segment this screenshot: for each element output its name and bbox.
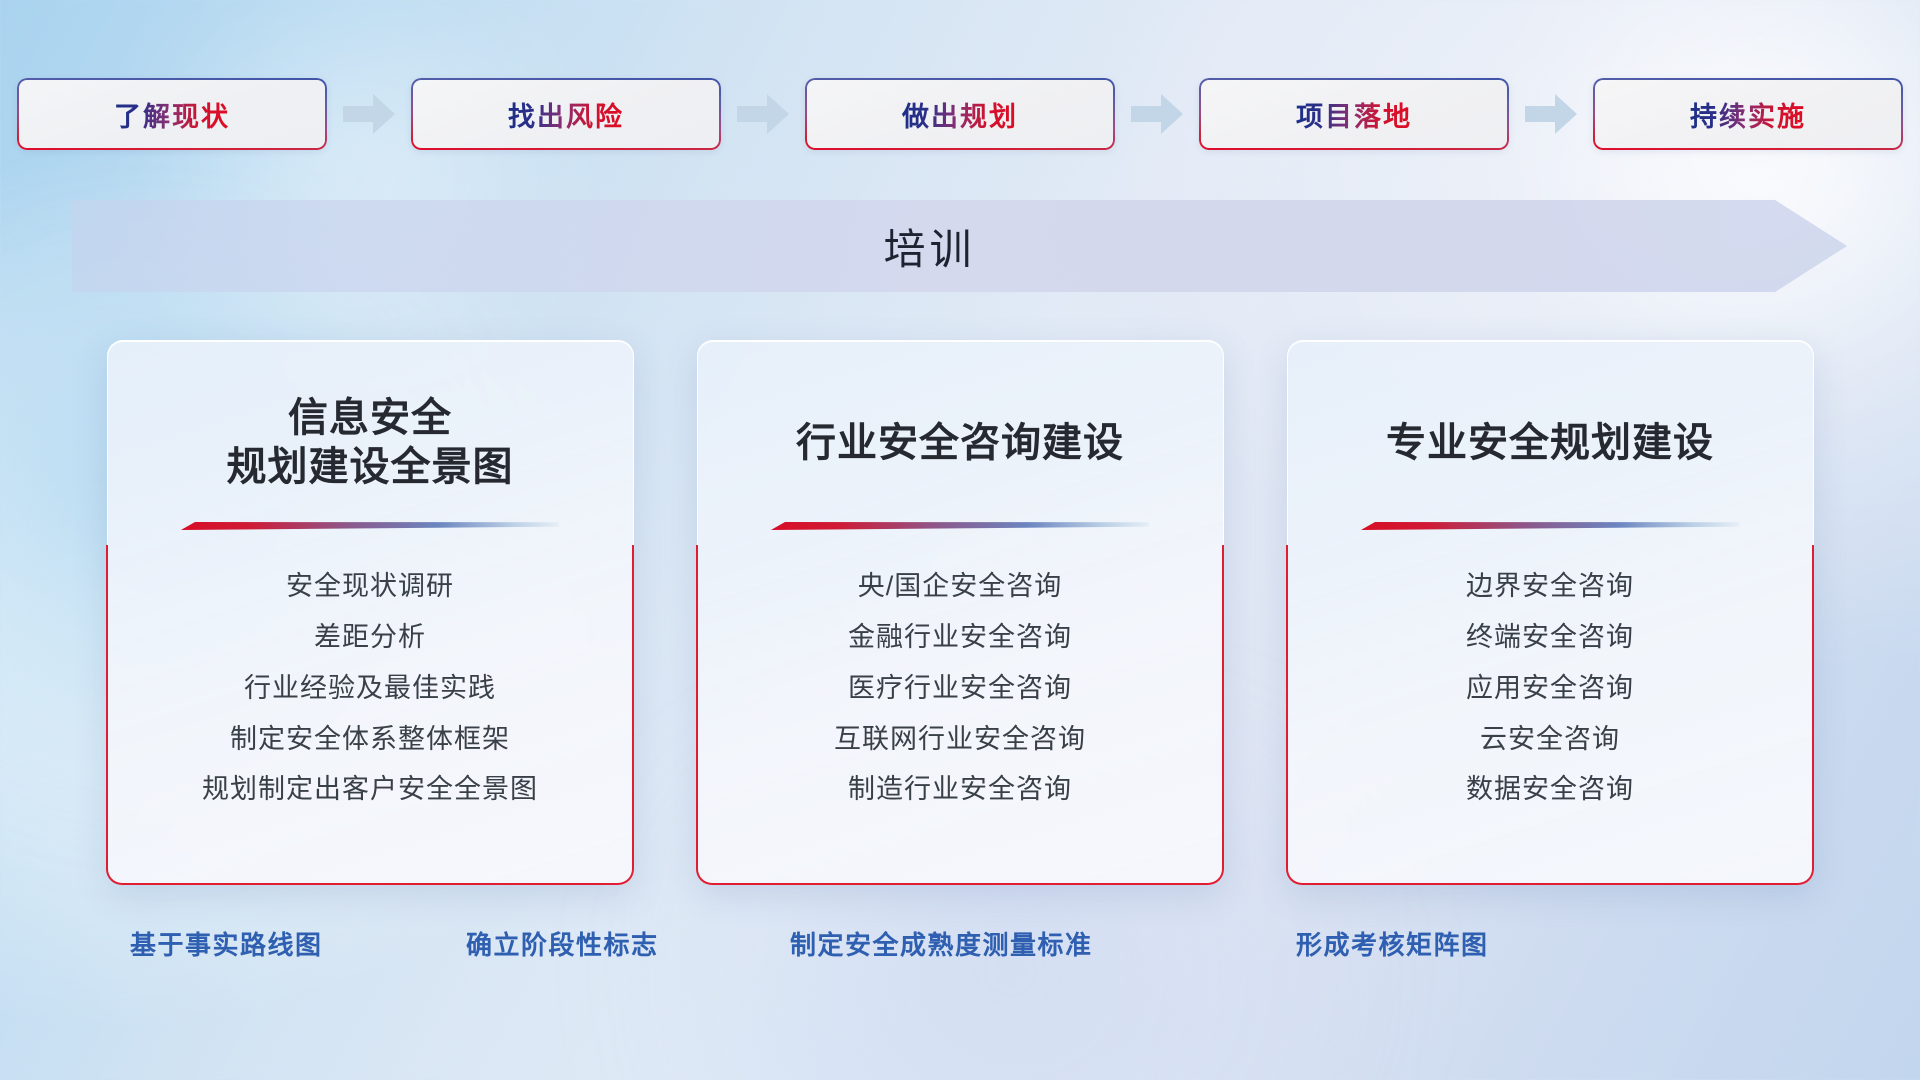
service-card-1[interactable]: 信息安全 规划建设全景图 安全现状调研 差	[107, 340, 634, 885]
card-divider-1	[181, 519, 559, 532]
service-card-2[interactable]: 行业安全咨询建设 央/国企安全咨询 金融行业安全咨询	[697, 340, 1224, 885]
list-item: 金融行业安全咨询	[848, 617, 1072, 659]
list-item: 应用安全咨询	[1466, 668, 1634, 710]
training-banner: 培训	[72, 200, 1847, 292]
card-title-2: 行业安全咨询建设	[796, 393, 1124, 493]
card-divider-2	[771, 519, 1149, 532]
step-button-4[interactable]: 项目落地	[1199, 78, 1509, 150]
card-title-line: 行业安全咨询建设	[796, 419, 1124, 468]
list-item: 终端安全咨询	[1466, 617, 1634, 659]
list-item: 云安全咨询	[1480, 719, 1620, 761]
card-title-line: 信息安全	[227, 394, 514, 443]
step-label: 做出规划	[902, 95, 1018, 134]
outcome-caption-2: 确立阶段性标志	[466, 925, 659, 962]
card-item-list-1: 安全现状调研 差距分析 行业经验及最佳实践 制定安全体系整体框架 规划制定出客户…	[142, 566, 599, 811]
process-step-bar: 了解现状 找出风险 做出规划 项目落地 持续实施	[0, 78, 1920, 150]
list-item: 安全现状调研	[286, 566, 454, 608]
outcome-caption-3: 制定安全成熟度测量标准	[790, 925, 1093, 962]
list-item: 医疗行业安全咨询	[848, 668, 1072, 710]
step-label: 了解现状	[114, 95, 230, 134]
step-button-3[interactable]: 做出规划	[805, 78, 1115, 150]
list-item: 数据安全咨询	[1466, 769, 1634, 811]
card-title-3: 专业安全规划建设	[1386, 393, 1714, 493]
list-item: 规划制定出客户安全全景图	[202, 769, 538, 811]
card-title-line: 专业安全规划建设	[1386, 419, 1714, 468]
outcome-caption-1: 基于事实路线图	[130, 925, 323, 962]
card-title-line: 规划建设全景图	[227, 443, 514, 492]
card-divider-3	[1361, 519, 1739, 532]
step-label: 找出风险	[508, 95, 624, 134]
list-item: 差距分析	[314, 617, 426, 659]
step-label: 项目落地	[1296, 95, 1412, 134]
step-arrow-icon-1	[327, 78, 411, 150]
step-button-5[interactable]: 持续实施	[1593, 78, 1903, 150]
outcome-caption-4: 形成考核矩阵图	[1296, 925, 1489, 962]
list-item: 边界安全咨询	[1466, 566, 1634, 608]
list-item: 央/国企安全咨询	[858, 566, 1063, 608]
list-item: 制定安全体系整体框架	[230, 719, 510, 761]
step-label: 持续实施	[1690, 95, 1806, 134]
step-arrow-icon-3	[1115, 78, 1199, 150]
list-item: 行业经验及最佳实践	[244, 668, 496, 710]
step-arrow-icon-4	[1509, 78, 1593, 150]
service-card-3[interactable]: 专业安全规划建设 边界安全咨询 终端安全咨询	[1287, 340, 1814, 885]
card-title-1: 信息安全 规划建设全景图	[227, 393, 514, 493]
step-button-2[interactable]: 找出风险	[411, 78, 721, 150]
step-arrow-icon-2	[721, 78, 805, 150]
banner-title: 培训	[72, 200, 1847, 292]
list-item: 制造行业安全咨询	[848, 769, 1072, 811]
card-item-list-2: 央/国企安全咨询 金融行业安全咨询 医疗行业安全咨询 互联网行业安全咨询 制造行…	[732, 566, 1189, 811]
step-button-1[interactable]: 了解现状	[17, 78, 327, 150]
card-item-list-3: 边界安全咨询 终端安全咨询 应用安全咨询 云安全咨询 数据安全咨询	[1322, 566, 1779, 811]
service-card-row: 信息安全 规划建设全景图 安全现状调研 差	[0, 340, 1920, 885]
list-item: 互联网行业安全咨询	[834, 719, 1086, 761]
outcome-caption-row: 基于事实路线图 确立阶段性标志 制定安全成熟度测量标准 形成考核矩阵图	[0, 925, 1920, 971]
background-glow-right	[1480, 0, 1920, 380]
